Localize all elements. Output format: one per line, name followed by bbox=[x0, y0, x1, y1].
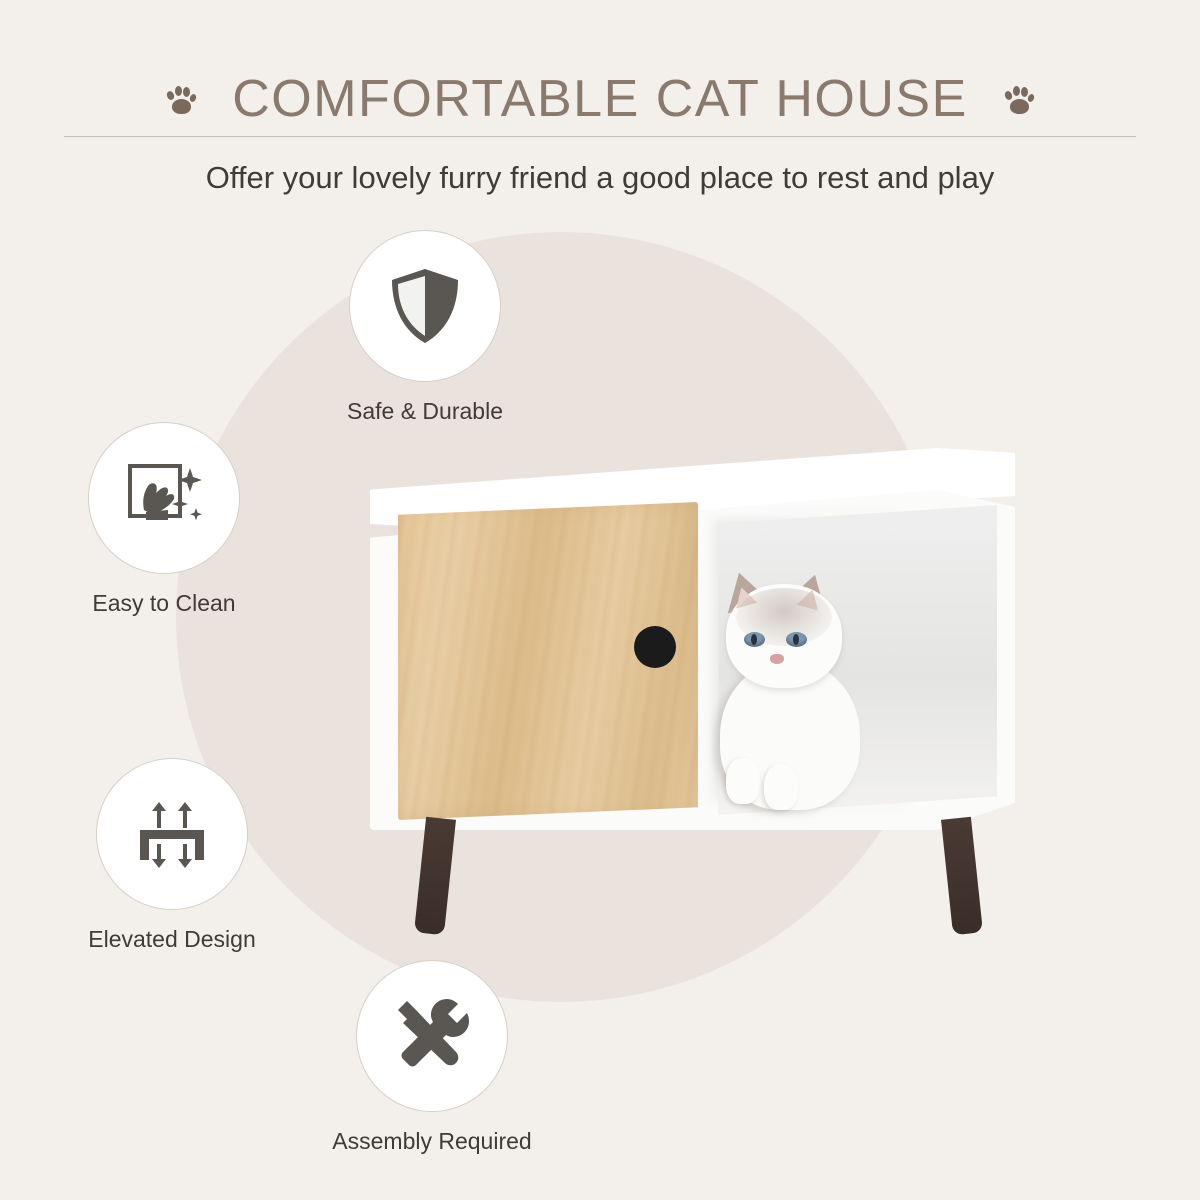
feature-easy-to-clean: Easy to Clean bbox=[64, 422, 264, 617]
screwdriver-wrench-icon bbox=[385, 989, 479, 1083]
paw-print-icon bbox=[164, 82, 198, 116]
shield-icon bbox=[382, 263, 468, 349]
feature-badge bbox=[88, 422, 240, 574]
feature-safe-durable: Safe & Durable bbox=[325, 230, 525, 425]
ragdoll-cat bbox=[710, 570, 895, 810]
tapered-leg-left bbox=[414, 817, 456, 936]
feature-badge bbox=[349, 230, 501, 382]
poster-canvas: COMFORTABLE CAT HOUSE Offer your lovely … bbox=[0, 0, 1200, 1200]
header-divider bbox=[64, 136, 1136, 137]
cat-paw bbox=[726, 758, 760, 804]
cat-paw bbox=[764, 764, 798, 810]
feature-label: Assembly Required bbox=[332, 1128, 532, 1155]
header: COMFORTABLE CAT HOUSE Offer your lovely … bbox=[0, 0, 1200, 220]
cleaning-cloth-sparkle-icon bbox=[118, 452, 210, 544]
height-measure-icon bbox=[126, 788, 218, 880]
feature-label: Easy to Clean bbox=[64, 590, 264, 617]
title-row: COMFORTABLE CAT HOUSE bbox=[0, 34, 1200, 164]
feature-badge bbox=[356, 960, 508, 1112]
cat-nose bbox=[770, 654, 784, 664]
cat-pupil-right bbox=[793, 634, 799, 645]
feature-label: Elevated Design bbox=[72, 926, 272, 953]
feature-badge bbox=[96, 758, 248, 910]
feature-elevated-design: Elevated Design bbox=[72, 758, 272, 953]
page-title: COMFORTABLE CAT HOUSE bbox=[232, 69, 968, 129]
cat-pupil-left bbox=[751, 634, 757, 645]
feature-label: Safe & Durable bbox=[325, 398, 525, 425]
door-knob bbox=[634, 626, 676, 668]
product-image bbox=[362, 430, 1022, 950]
feature-assembly-required: Assembly Required bbox=[332, 960, 532, 1155]
page-subtitle: Offer your lovely furry friend a good pl… bbox=[0, 160, 1200, 196]
paw-print-icon bbox=[1002, 82, 1036, 116]
tapered-leg-right bbox=[941, 817, 983, 936]
